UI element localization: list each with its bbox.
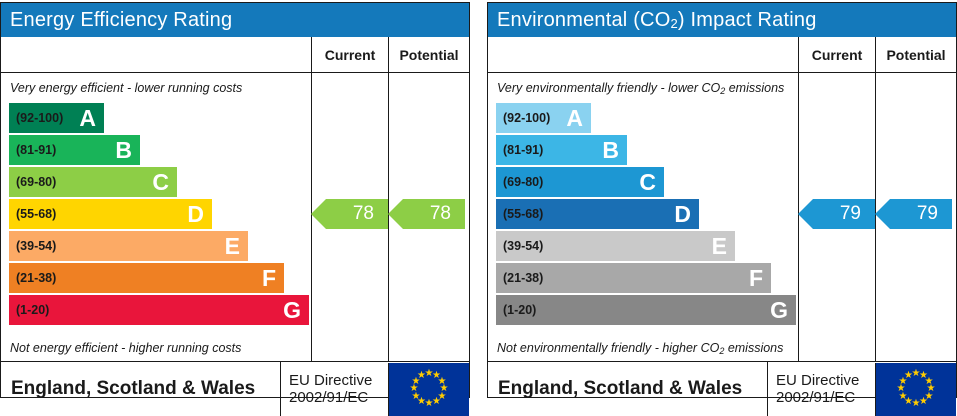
environmental-band-g: (1-20) G [496, 295, 796, 325]
environmental-band-e: (39-54) E [496, 231, 735, 261]
environmental-band-b-range: (81-91) [503, 143, 543, 157]
energy-band-a-range: (92-100) [16, 111, 63, 125]
eu-flag-icon-right: ★★★★★★★★★★★★ [875, 363, 956, 416]
environmental-band-area: Very environmentally friendly - lower CO… [488, 73, 956, 361]
environmental-impact-rating-chart: Environmental (CO2) Impact Rating Curren… [487, 2, 957, 398]
energy-band-d-range: (55-68) [16, 207, 56, 221]
environmental-band-g-letter: G [770, 299, 788, 322]
environmental-chart-title-suffix: ) Impact Rating [678, 9, 817, 32]
environmental-note-top-suffix: emissions [725, 81, 784, 95]
energy-band-d: (55-68) D [9, 199, 212, 229]
eu-star-icon: ★ [417, 371, 427, 381]
energy-potential-value: 78 [430, 203, 451, 225]
energy-band-e-letter: E [225, 235, 240, 258]
energy-band-f-letter: F [262, 267, 276, 290]
environmental-band-d: (55-68) D [496, 199, 699, 229]
energy-bands: (92-100) A (81-91) B (69-80) C (55-68) D… [9, 103, 309, 327]
energy-efficiency-rating-chart: Energy Efficiency Rating Current Potenti… [0, 2, 470, 398]
energy-band-e-range: (39-54) [16, 239, 56, 253]
environmental-band-c-letter: C [639, 171, 656, 194]
environmental-footer: England, Scotland & Wales EU Directive 2… [488, 361, 956, 416]
environmental-band-d-range: (55-68) [503, 207, 543, 221]
energy-band-b-letter: B [115, 139, 132, 162]
environmental-chart-title-prefix: Environmental (CO [497, 9, 670, 32]
environmental-potential-header: Potential [875, 37, 956, 72]
environmental-footer-country: England, Scotland & Wales [488, 378, 767, 400]
environmental-chart-title-sub: 2 [670, 16, 677, 31]
energy-band-g-range: (1-20) [16, 303, 49, 317]
environmental-band-b-letter: B [602, 139, 619, 162]
energy-band-d-letter: D [187, 203, 204, 226]
environmental-potential-arrow: 79 [890, 199, 952, 229]
environmental-band-a-letter: A [566, 107, 583, 130]
epc-graphs-root: Energy Efficiency Rating Current Potenti… [0, 0, 957, 404]
energy-band-f: (21-38) F [9, 263, 284, 293]
environmental-note-bottom-prefix: Not environmentally friendly - higher CO [497, 341, 719, 355]
energy-current-header: Current [311, 37, 388, 72]
energy-band-b: (81-91) B [9, 135, 140, 165]
energy-band-area: Very energy efficient - lower running co… [1, 73, 469, 361]
environmental-band-a: (92-100) A [496, 103, 591, 133]
environmental-band-f: (21-38) F [496, 263, 771, 293]
environmental-band-f-range: (21-38) [503, 271, 543, 285]
energy-note-bottom: Not energy efficient - higher running co… [10, 341, 241, 355]
environmental-note-top-sub: 2 [720, 86, 725, 96]
eu-star-icon: ★ [904, 371, 914, 381]
environmental-potential-value: 79 [917, 203, 938, 225]
energy-band-f-range: (21-38) [16, 271, 56, 285]
energy-band-g-letter: G [283, 299, 301, 322]
environmental-band-e-range: (39-54) [503, 239, 543, 253]
environmental-directive-line1: EU Directive [776, 372, 875, 389]
environmental-band-e-letter: E [712, 235, 727, 258]
environmental-band-d-letter: D [674, 203, 691, 226]
environmental-band-f-letter: F [749, 267, 763, 290]
energy-band-b-range: (81-91) [16, 143, 56, 157]
environmental-note-top: Very environmentally friendly - lower CO… [497, 81, 784, 95]
energy-column-headers: Current Potential [1, 37, 469, 73]
energy-chart-title-text: Energy Efficiency Rating [10, 9, 232, 32]
energy-chart-title: Energy Efficiency Rating [1, 3, 469, 37]
environmental-current-value: 79 [840, 203, 861, 225]
environmental-current-header: Current [798, 37, 875, 72]
energy-band-c-letter: C [152, 171, 169, 194]
environmental-bands: (92-100) A (81-91) B (69-80) C (55-68) D… [496, 103, 796, 327]
energy-footer-directive: EU Directive 2002/91/EC [280, 362, 388, 416]
environmental-column-headers: Current Potential [488, 37, 956, 73]
environmental-band-c-range: (69-80) [503, 175, 543, 189]
energy-band-c: (69-80) C [9, 167, 177, 197]
environmental-band-c: (69-80) C [496, 167, 664, 197]
energy-note-top: Very energy efficient - lower running co… [10, 81, 242, 95]
environmental-band-g-range: (1-20) [503, 303, 536, 317]
environmental-band-b: (81-91) B [496, 135, 627, 165]
energy-band-a-letter: A [79, 107, 96, 130]
energy-band-c-range: (69-80) [16, 175, 56, 189]
environmental-band-a-range: (92-100) [503, 111, 550, 125]
energy-directive-line1: EU Directive [289, 372, 388, 389]
energy-band-g: (1-20) G [9, 295, 309, 325]
environmental-current-arrow: 79 [813, 199, 875, 229]
environmental-footer-directive: EU Directive 2002/91/EC [767, 362, 875, 416]
energy-potential-arrow: 78 [403, 199, 465, 229]
eu-flag-icon-left: ★★★★★★★★★★★★ [388, 363, 469, 416]
energy-footer: England, Scotland & Wales EU Directive 2… [1, 361, 469, 416]
energy-current-arrow: 78 [326, 199, 388, 229]
environmental-note-bottom-sub: 2 [719, 346, 724, 356]
environmental-note-bottom: Not environmentally friendly - higher CO… [497, 341, 783, 355]
environmental-note-bottom-suffix: emissions [724, 341, 783, 355]
environmental-note-top-prefix: Very environmentally friendly - lower CO [497, 81, 720, 95]
energy-potential-header: Potential [388, 37, 469, 72]
environmental-chart-title: Environmental (CO2) Impact Rating [488, 3, 956, 37]
energy-band-e: (39-54) E [9, 231, 248, 261]
energy-current-value: 78 [353, 203, 374, 225]
energy-band-a: (92-100) A [9, 103, 104, 133]
energy-footer-country: England, Scotland & Wales [1, 378, 280, 400]
